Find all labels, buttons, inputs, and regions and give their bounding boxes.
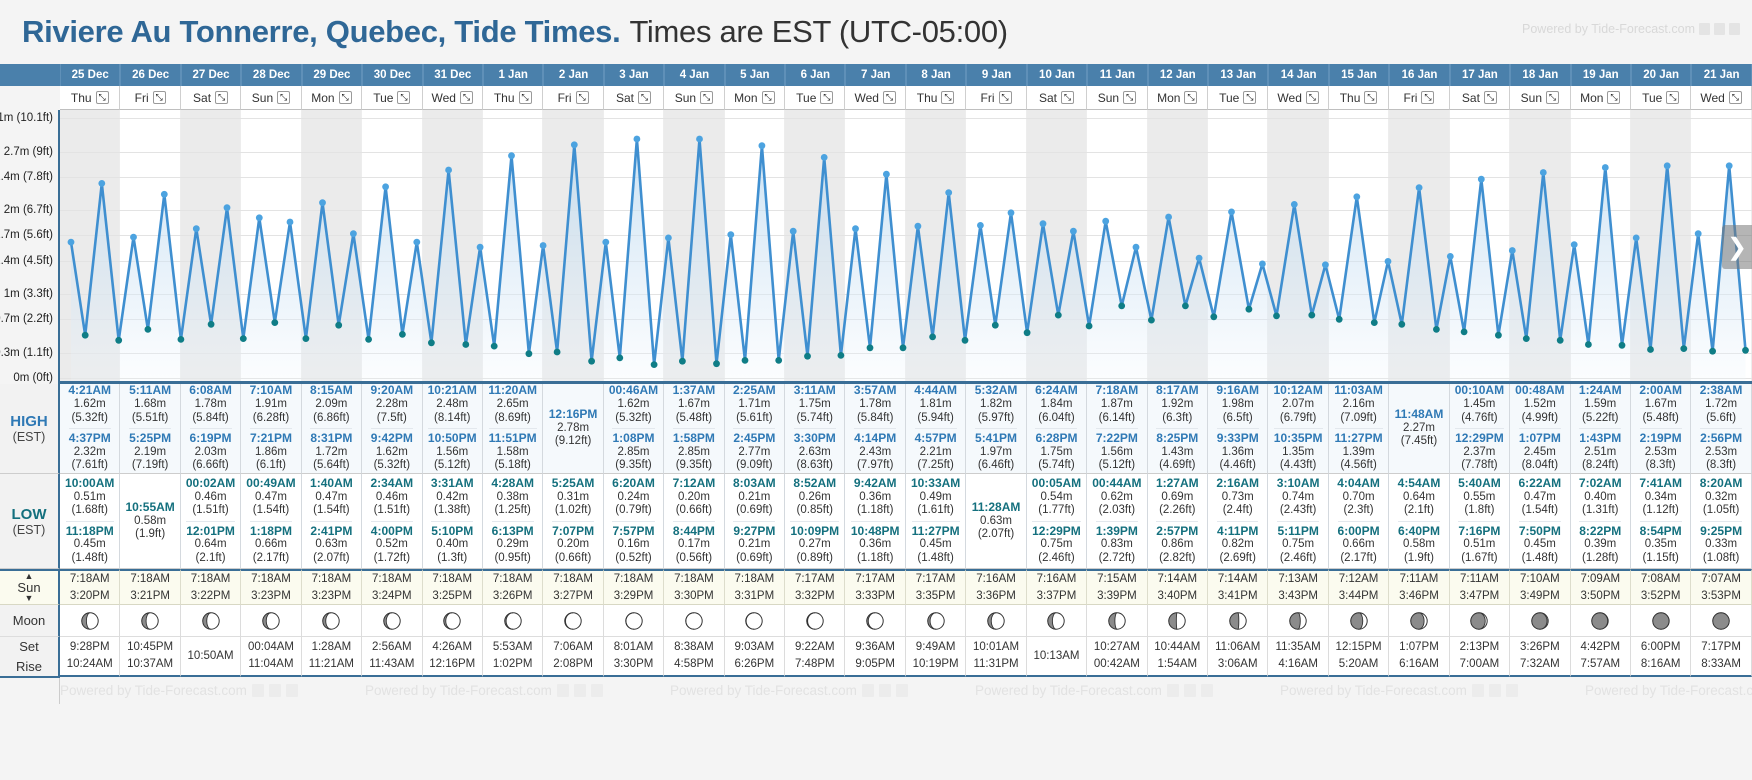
- moon-cell: [1208, 605, 1268, 637]
- high-cell[interactable]: 1:24AM1.59m(5.22ft)1:43PM2.51m(8.24ft): [1571, 384, 1631, 474]
- day-cell-sun[interactable]: Sun⤡: [1510, 86, 1570, 110]
- sunrise-time: 7:10AM: [1520, 571, 1560, 588]
- expand-icon[interactable]: ⤡: [96, 91, 109, 104]
- high-cell[interactable]: 6:24AM1.84m(6.04ft)6:28PM1.75m(5.74ft): [1027, 384, 1087, 474]
- high-event: 1:37AM1.67m(5.48ft): [673, 384, 716, 426]
- day-cell-tue[interactable]: Tue⤡: [1208, 86, 1268, 110]
- low-cell[interactable]: 5:40AM0.55m(1.8ft)7:16PM0.51m(1.67ft): [1450, 474, 1510, 569]
- next-period-button[interactable]: ❯: [1722, 225, 1752, 269]
- date-header-14-jan[interactable]: 14 Jan: [1268, 64, 1328, 86]
- sunset-time: 3:24PM: [372, 588, 412, 605]
- low-tide-point: [1433, 326, 1440, 333]
- moon-cell: [1329, 605, 1389, 637]
- moonset-time: 11:06AM: [1215, 639, 1260, 656]
- day-cell-thu[interactable]: Thu⤡: [1329, 86, 1389, 110]
- high-cell[interactable]: 4:44AM1.81m(5.94ft)4:57PM2.21m(7.25ft): [906, 384, 966, 474]
- high-time: 2:38AM: [1700, 384, 1743, 398]
- high-cell[interactable]: 11:20AM2.65m(8.69ft)11:51PM1.58m(5.18ft): [483, 384, 543, 474]
- footer-watermarks: Powered by Tide-Forecast.comPowered by T…: [0, 678, 1752, 704]
- high-cell[interactable]: 8:15AM2.09m(6.86ft)8:31PM1.72m(5.64ft): [302, 384, 362, 474]
- sunset-time: 3:39PM: [1097, 588, 1137, 605]
- low-time: 00:02AM: [186, 477, 235, 491]
- low-height-ft: (2.1ft): [186, 552, 235, 565]
- high-tide-point: [1602, 164, 1609, 171]
- low-cell[interactable]: 5:25AM0.31m(1.02ft)7:07PM0.20m(0.66ft): [543, 474, 603, 569]
- low-height-m: 0.47m: [1518, 491, 1561, 504]
- day-cell-sat[interactable]: Sat⤡: [1027, 86, 1087, 110]
- high-event: 3:11AM1.75m(5.74ft): [794, 384, 836, 426]
- high-time: 9:42PM: [371, 432, 413, 446]
- low-height-m: 0.55m: [1458, 491, 1501, 504]
- low-cell[interactable]: 8:03AM0.21m(0.69ft)9:27PM0.21m(0.69ft): [725, 474, 785, 569]
- moonset-time: 9:03AM: [735, 639, 775, 656]
- moonset-time: 4:42PM: [1580, 639, 1620, 656]
- high-height-m: 2.51m: [1579, 446, 1621, 459]
- low-height-ft: (2.03ft): [1092, 504, 1141, 517]
- chart-baseline: [60, 381, 1752, 384]
- low-cell[interactable]: 6:22AM0.47m(1.54ft)7:50PM0.45m(1.48ft): [1510, 474, 1570, 569]
- high-cell[interactable]: 12:16PM2.78m(9.12ft): [543, 384, 603, 474]
- low-time: 2:16AM: [1216, 477, 1259, 491]
- low-height-ft: (1.3ft): [431, 552, 473, 565]
- low-tide-point: [1086, 323, 1093, 330]
- low-time: 8:52AM: [793, 477, 836, 491]
- high-event: 9:42PM1.62m(5.32ft): [371, 428, 413, 474]
- low-height-m: 0.64m: [1398, 491, 1441, 504]
- low-cell[interactable]: 8:20AM0.32m(1.05ft)9:25PM0.33m(1.08ft): [1691, 474, 1751, 569]
- date-header-1-jan[interactable]: 1 Jan: [483, 64, 543, 86]
- footer-watermark-text: Powered by Tide-Forecast.com: [1585, 683, 1752, 698]
- low-event: 5:11PM0.75m(2.46ft): [1277, 521, 1318, 567]
- low-tide-point: [1495, 332, 1502, 339]
- expand-icon[interactable]: ⤡: [153, 91, 166, 104]
- low-height-ft: (1.77ft): [1032, 504, 1081, 517]
- high-tide-point: [1070, 228, 1077, 235]
- high-cell[interactable]: 00:46AM1.62m(5.32ft)1:08PM2.85m(9.35ft): [604, 384, 664, 474]
- low-tide-point: [742, 357, 749, 364]
- moon-setrise-cells: 9:28PM10:24AM10:45PM10:37AM10:50AM00:04A…: [60, 637, 1752, 678]
- high-cell[interactable]: 3:57AM1.78m(5.84ft)4:14PM2.43m(7.97ft): [845, 384, 905, 474]
- low-cell[interactable]: 1:27AM0.69m(2.26ft)2:57PM0.86m(2.82ft): [1148, 474, 1208, 569]
- expand-icon[interactable]: ⤡: [1729, 91, 1742, 104]
- date-header-26-dec[interactable]: 26 Dec: [120, 64, 180, 86]
- high-event: 11:51PM1.58m(5.18ft): [489, 428, 537, 474]
- low-height-ft: (1.48ft): [66, 552, 114, 565]
- low-height-ft: (0.89ft): [790, 552, 839, 565]
- day-cell-wed[interactable]: Wed⤡: [1268, 86, 1328, 110]
- day-cell-thu[interactable]: Thu⤡: [60, 86, 120, 110]
- low-time: 4:11PM: [1217, 525, 1258, 539]
- high-height-ft: (7.97ft): [854, 459, 896, 472]
- sunrise-time: 7:08AM: [1641, 571, 1681, 588]
- low-height-ft: (1.48ft): [1519, 552, 1561, 565]
- low-height-m: 0.46m: [370, 491, 413, 504]
- expand-icon[interactable]: ⤡: [638, 91, 651, 104]
- high-cell[interactable]: 9:16AM1.98m(6.5ft)9:33PM1.36m(4.46ft): [1208, 384, 1268, 474]
- high-tide-point: [1102, 218, 1109, 225]
- expand-icon[interactable]: ⤡: [1421, 91, 1434, 104]
- low-tide-point: [1118, 303, 1125, 310]
- high-event: 2:25AM1.71m(5.61ft): [733, 384, 776, 426]
- low-height-m: 0.58m: [1398, 538, 1440, 551]
- high-event: 10:35PM1.35m(4.43ft): [1274, 428, 1323, 474]
- low-cell[interactable]: 00:49AM0.47m(1.54ft)1:18PM0.66m(2.17ft): [241, 474, 301, 569]
- high-tide-point: [256, 214, 263, 221]
- expand-icon[interactable]: ⤡: [1607, 91, 1620, 104]
- date-header-29-dec[interactable]: 29 Dec: [302, 64, 362, 86]
- date-header-11-jan[interactable]: 11 Jan: [1087, 64, 1147, 86]
- high-event: 9:16AM1.98m(6.5ft): [1216, 384, 1259, 426]
- expand-icon[interactable]: ⤡: [1184, 91, 1197, 104]
- high-event: 8:31PM1.72m(5.64ft): [310, 428, 352, 474]
- high-cell[interactable]: 2:38AM1.72m(5.6ft)2:56PM2.53m(8.3ft): [1691, 384, 1751, 474]
- moonset-time: 00:04AM: [248, 639, 294, 656]
- expand-icon[interactable]: ⤡: [941, 91, 954, 104]
- low-cell[interactable]: 10:00AM0.51m(1.68ft)11:18PM0.45m(1.48ft): [60, 474, 120, 569]
- day-cell-mon[interactable]: Mon⤡: [1571, 86, 1631, 110]
- high-time: 5:25PM: [129, 432, 171, 446]
- expand-icon[interactable]: ⤡: [1364, 91, 1377, 104]
- high-time: 00:10AM: [1455, 384, 1504, 398]
- day-cell-sat[interactable]: Sat⤡: [604, 86, 664, 110]
- high-time: 2:45PM: [733, 432, 775, 446]
- brand-icon-1: [1167, 684, 1179, 697]
- moon-label: Moon: [0, 605, 60, 637]
- high-cell[interactable]: 10:12AM2.07m(6.79ft)10:35PM1.35m(4.43ft): [1268, 384, 1328, 474]
- date-header-21-jan[interactable]: 21 Jan: [1691, 64, 1751, 86]
- high-tide-point: [571, 141, 578, 148]
- high-event: 6:28PM1.75m(5.74ft): [1035, 428, 1077, 474]
- high-cell[interactable]: 00:10AM1.45m(4.76ft)12:29PM2.37m(7.78ft): [1450, 384, 1510, 474]
- day-cell-fri[interactable]: Fri⤡: [120, 86, 180, 110]
- moonrise-time: 7:57AM: [1580, 656, 1620, 673]
- expand-icon[interactable]: ⤡: [1546, 91, 1559, 104]
- high-height-ft: (8.3ft): [1700, 459, 1742, 472]
- sunrise-time: 7:18AM: [251, 571, 291, 588]
- low-time: 8:54PM: [1640, 525, 1682, 539]
- sun-cell: 7:09AM3:50PM: [1571, 569, 1631, 605]
- high-time: 2:00AM: [1639, 384, 1682, 398]
- low-tide-point: [867, 344, 874, 351]
- day-cell-tue[interactable]: Tue⤡: [1631, 86, 1691, 110]
- high-time: 2:25AM: [733, 384, 776, 398]
- date-header-27-dec[interactable]: 27 Dec: [181, 64, 241, 86]
- high-time: 5:32AM: [975, 384, 1018, 398]
- low-cell[interactable]: 6:20AM0.24m(0.79ft)7:57PM0.16m(0.52ft): [604, 474, 664, 569]
- low-event: 8:03AM0.21m(0.69ft): [733, 476, 776, 519]
- moon-setrise-cell: 8:38AM4:58PM: [664, 637, 724, 677]
- day-name: Thu: [917, 91, 938, 105]
- sunrise-arrow-icon: ▲: [25, 573, 34, 580]
- date-header-19-jan[interactable]: 19 Jan: [1571, 64, 1631, 86]
- sunset-time: 3:49PM: [1520, 588, 1560, 605]
- expand-icon[interactable]: ⤡: [762, 91, 775, 104]
- high-cell[interactable]: 7:10AM1.91m(6.28ft)7:21PM1.86m(6.1ft): [241, 384, 301, 474]
- expand-icon[interactable]: ⤡: [700, 91, 713, 104]
- low-tide-point: [82, 332, 89, 339]
- high-height-ft: (5.74ft): [794, 412, 836, 425]
- high-event: 2:56PM2.53m(8.3ft): [1700, 428, 1742, 474]
- low-height-m: 0.45m: [1519, 538, 1561, 551]
- sunrise-time: 7:18AM: [130, 571, 170, 588]
- expand-icon[interactable]: ⤡: [215, 91, 228, 104]
- day-cell-fri[interactable]: Fri⤡: [966, 86, 1026, 110]
- low-cell[interactable]: 00:02AM0.46m(1.51ft)12:01PM0.64m(2.1ft): [181, 474, 241, 569]
- high-height-ft: (4.56ft): [1335, 459, 1383, 472]
- low-cell[interactable]: 7:12AM0.20m(0.66ft)8:44PM0.17m(0.56ft): [664, 474, 724, 569]
- sun-cell: 7:17AM3:33PM: [845, 569, 905, 605]
- high-height-ft: (5.48ft): [673, 412, 716, 425]
- low-tide-point: [1246, 306, 1253, 313]
- high-cell[interactable]: 4:21AM1.62m(5.32ft)4:37PM2.32m(7.61ft): [60, 384, 120, 474]
- high-tide-point: [413, 239, 420, 246]
- expand-icon[interactable]: ⤡: [397, 91, 410, 104]
- day-cell-sat[interactable]: Sat⤡: [1450, 86, 1510, 110]
- expand-icon[interactable]: ⤡: [1243, 91, 1256, 104]
- expand-icon[interactable]: ⤡: [999, 91, 1012, 104]
- low-cell[interactable]: 3:31AM0.42m(1.38ft)5:10PM0.40m(1.3ft): [423, 474, 483, 569]
- day-cell-sun[interactable]: Sun⤡: [1087, 86, 1147, 110]
- low-cell[interactable]: 4:28AM0.38m(1.25ft)6:13PM0.29m(0.95ft): [483, 474, 543, 569]
- y-axis-tick: 1m (3.3ft): [4, 288, 53, 300]
- moonset-time: 10:13AM: [1033, 648, 1079, 665]
- low-time: 00:44AM: [1092, 477, 1141, 491]
- high-height-ft: (6.46ft): [975, 459, 1017, 472]
- sun-cell: 7:16AM3:37PM: [1027, 569, 1087, 605]
- low-height-m: 0.40m: [1579, 491, 1622, 504]
- low-tide-unit: (EST): [13, 523, 46, 537]
- date-header-20-jan[interactable]: 20 Jan: [1631, 64, 1691, 86]
- high-time: 1:58PM: [673, 432, 715, 446]
- sunset-time: 3:22PM: [191, 588, 231, 605]
- day-name: Sat: [616, 91, 634, 105]
- expand-icon[interactable]: ⤡: [1306, 91, 1319, 104]
- high-time: 4:44AM: [914, 384, 957, 398]
- moon-cell: [1268, 605, 1328, 637]
- high-cell[interactable]: 5:32AM1.82m(5.97ft)5:41PM1.97m(6.46ft): [966, 384, 1026, 474]
- low-cell[interactable]: 2:16AM0.73m(2.4ft)4:11PM0.82m(2.69ft): [1208, 474, 1268, 569]
- high-event: 10:12AM2.07m(6.79ft): [1273, 384, 1322, 426]
- high-cell[interactable]: 5:11AM1.68m(5.51ft)5:25PM2.19m(7.19ft): [120, 384, 180, 474]
- expand-icon[interactable]: ⤡: [1123, 91, 1136, 104]
- day-cell-fri[interactable]: Fri⤡: [543, 86, 603, 110]
- expand-icon[interactable]: ⤡: [576, 91, 589, 104]
- low-cell[interactable]: 3:10AM0.74m(2.43ft)5:11PM0.75m(2.46ft): [1268, 474, 1328, 569]
- low-height-m: 0.82m: [1217, 538, 1258, 551]
- high-cell[interactable]: 11:48AM2.27m(7.45ft): [1389, 384, 1449, 474]
- expand-icon[interactable]: ⤡: [277, 91, 290, 104]
- sunrise-time: 7:18AM: [553, 571, 593, 588]
- high-tide-point: [130, 234, 137, 241]
- date-header-2-jan[interactable]: 2 Jan: [543, 64, 603, 86]
- day-cell-tue[interactable]: Tue⤡: [785, 86, 845, 110]
- high-tide-point: [161, 191, 168, 198]
- day-cell-sun[interactable]: Sun⤡: [664, 86, 724, 110]
- sunset-time: 3:27PM: [553, 588, 593, 605]
- low-height-m: 0.31m: [552, 491, 595, 504]
- date-header-8-jan[interactable]: 8 Jan: [906, 64, 966, 86]
- date-header-12-jan[interactable]: 12 Jan: [1148, 64, 1208, 86]
- day-cell-mon[interactable]: Mon⤡: [302, 86, 362, 110]
- date-header-15-jan[interactable]: 15 Jan: [1329, 64, 1389, 86]
- date-header-16-jan[interactable]: 16 Jan: [1389, 64, 1449, 86]
- day-cell-fri[interactable]: Fri⤡: [1389, 86, 1449, 110]
- high-tide-point: [977, 222, 984, 229]
- high-height-m: 1.81m: [914, 398, 957, 411]
- expand-icon[interactable]: ⤡: [820, 91, 833, 104]
- low-cell[interactable]: 4:54AM0.64m(2.1ft)6:40PM0.58m(1.9ft): [1389, 474, 1449, 569]
- date-header-4-jan[interactable]: 4 Jan: [664, 64, 724, 86]
- low-height-ft: (0.69ft): [733, 552, 775, 565]
- high-tide-cells: 4:21AM1.62m(5.32ft)4:37PM2.32m(7.61ft)5:…: [60, 384, 1752, 474]
- low-event: 7:16PM0.51m(1.67ft): [1458, 521, 1500, 567]
- low-cell[interactable]: 8:52AM0.26m(0.85ft)10:09PM0.27m(0.89ft): [785, 474, 845, 569]
- high-height-ft: (6.28ft): [250, 412, 293, 425]
- low-time: 9:27PM: [733, 525, 775, 539]
- high-cell[interactable]: 2:25AM1.71m(5.61ft)2:45PM2.77m(9.09ft): [725, 384, 785, 474]
- date-header-7-jan[interactable]: 7 Jan: [845, 64, 905, 86]
- moonrise-time: 8:33AM: [1701, 656, 1741, 673]
- expand-icon[interactable]: ⤡: [1061, 91, 1074, 104]
- low-height-ft: (1.9ft): [1398, 552, 1440, 565]
- high-time: 11:03AM: [1334, 384, 1383, 398]
- high-height-m: 2.43m: [854, 446, 896, 459]
- low-cell[interactable]: 7:41AM0.34m(1.12ft)8:54PM0.35m(1.15ft): [1631, 474, 1691, 569]
- high-tide-point: [1571, 241, 1578, 248]
- high-height-m: 2.65m: [488, 398, 537, 411]
- low-event: 12:01PM0.64m(2.1ft): [186, 521, 235, 567]
- high-tide-point: [1695, 230, 1702, 237]
- sunset-time: 3:43PM: [1278, 588, 1318, 605]
- low-cell[interactable]: 00:44AM0.62m(2.03ft)1:39PM0.83m(2.72ft): [1087, 474, 1147, 569]
- high-cell[interactable]: 10:21AM2.48m(8.14ft)10:50PM1.56m(5.12ft): [423, 384, 483, 474]
- date-header-30-dec[interactable]: 30 Dec: [362, 64, 422, 86]
- low-cell[interactable]: 10:33AM0.49m(1.61ft)11:27PM0.45m(1.48ft): [906, 474, 966, 569]
- high-tide-point: [945, 189, 952, 196]
- day-cell-wed[interactable]: Wed⤡: [423, 86, 483, 110]
- low-height-m: 0.54m: [1032, 491, 1081, 504]
- day-name: Sun: [675, 91, 696, 105]
- date-header-13-jan[interactable]: 13 Jan: [1208, 64, 1268, 86]
- low-time: 00:49AM: [246, 477, 295, 491]
- high-height-ft: (5.64ft): [310, 459, 352, 472]
- expand-icon[interactable]: ⤡: [460, 91, 473, 104]
- high-cell[interactable]: 8:17AM1.92m(6.3ft)8:25PM1.43m(4.69ft): [1148, 384, 1208, 474]
- high-cell[interactable]: 00:48AM1.52m(4.99ft)1:07PM2.45m(8.04ft): [1510, 384, 1570, 474]
- high-cell[interactable]: 11:03AM2.16m(7.09ft)11:27PM1.39m(4.56ft): [1329, 384, 1389, 474]
- date-header-9-jan[interactable]: 9 Jan: [966, 64, 1026, 86]
- date-header-18-jan[interactable]: 18 Jan: [1510, 64, 1570, 86]
- high-cell[interactable]: 6:08AM1.78m(5.84ft)6:19PM2.03m(6.66ft): [181, 384, 241, 474]
- date-header-5-jan[interactable]: 5 Jan: [725, 64, 785, 86]
- low-cell[interactable]: 11:28AM0.63m(2.07ft): [966, 474, 1026, 569]
- low-event: 9:27PM0.21m(0.69ft): [733, 521, 775, 567]
- day-cell-mon[interactable]: Mon⤡: [1148, 86, 1208, 110]
- high-event: 10:50PM1.56m(5.12ft): [428, 428, 477, 474]
- low-event: 00:49AM0.47m(1.54ft): [246, 476, 295, 519]
- low-cell[interactable]: 00:05AM0.54m(1.77ft)12:29PM0.75m(2.46ft): [1027, 474, 1087, 569]
- day-cell-thu[interactable]: Thu⤡: [906, 86, 966, 110]
- date-header-3-jan[interactable]: 3 Jan: [604, 64, 664, 86]
- high-height-ft: (4.43ft): [1274, 459, 1323, 472]
- low-tide-point: [929, 334, 936, 341]
- low-height-m: 0.35m: [1640, 538, 1682, 551]
- day-cell-thu[interactable]: Thu⤡: [483, 86, 543, 110]
- y-axis-tick: 1.4m (4.5ft): [0, 255, 53, 267]
- expand-icon[interactable]: ⤡: [883, 91, 896, 104]
- day-cell-wed[interactable]: Wed⤡: [1691, 86, 1751, 110]
- chart-y-axis: 3.1m (10.1ft)2.7m (9ft)2.4m (7.8ft)2m (6…: [0, 110, 60, 384]
- high-height-ft: (5.12ft): [428, 459, 477, 472]
- high-height-m: 1.75m: [1035, 446, 1077, 459]
- high-event: 7:21PM1.86m(6.1ft): [250, 428, 292, 474]
- date-header-25-dec[interactable]: 25 Dec: [60, 64, 120, 86]
- high-cell[interactable]: 3:11AM1.75m(5.74ft)3:30PM2.63m(8.63ft): [785, 384, 845, 474]
- expand-icon[interactable]: ⤡: [519, 91, 532, 104]
- moon-phase-icon: [80, 611, 100, 631]
- date-header-10-jan[interactable]: 10 Jan: [1027, 64, 1087, 86]
- day-cell-wed[interactable]: Wed⤡: [845, 86, 905, 110]
- low-cell[interactable]: 2:34AM0.46m(1.51ft)4:00PM0.52m(1.72ft): [362, 474, 422, 569]
- date-header-6-jan[interactable]: 6 Jan: [785, 64, 845, 86]
- high-cell[interactable]: 2:00AM1.67m(5.48ft)2:19PM2.53m(8.3ft): [1631, 384, 1691, 474]
- low-tide-point: [962, 337, 969, 344]
- low-cell[interactable]: 4:04AM0.70m(2.3ft)6:00PM0.66m(2.17ft): [1329, 474, 1389, 569]
- low-time: 10:55AM: [125, 501, 174, 515]
- low-tide-point: [588, 358, 595, 365]
- date-header-31-dec[interactable]: 31 Dec: [423, 64, 483, 86]
- low-height-m: 0.45m: [66, 538, 114, 551]
- footer-spacer: [0, 678, 60, 704]
- low-height-m: 0.21m: [733, 538, 775, 551]
- low-cell[interactable]: 10:55AM0.58m(1.9ft): [120, 474, 180, 569]
- high-height-m: 1.84m: [1035, 398, 1078, 411]
- low-time: 12:29PM: [1032, 525, 1081, 539]
- moon-cell: [604, 605, 664, 637]
- high-height-m: 1.98m: [1216, 398, 1259, 411]
- moon-cell: [1631, 605, 1691, 637]
- sunrise-time: 7:17AM: [916, 571, 956, 588]
- high-cell[interactable]: 9:20AM2.28m(7.5ft)9:42PM1.62m(5.32ft): [362, 384, 422, 474]
- low-tide-point: [1680, 345, 1687, 352]
- high-event: 5:11AM1.68m(5.51ft): [129, 384, 171, 426]
- low-height-m: 0.70m: [1337, 491, 1380, 504]
- low-height-m: 0.21m: [733, 491, 776, 504]
- sun-cell: 7:11AM3:47PM: [1450, 569, 1510, 605]
- day-cell-tue[interactable]: Tue⤡: [362, 86, 422, 110]
- low-cell[interactable]: 7:02AM0.40m(1.31ft)8:22PM0.39m(1.28ft): [1571, 474, 1631, 569]
- high-cell[interactable]: 1:37AM1.67m(5.48ft)1:58PM2.85m(9.35ft): [664, 384, 724, 474]
- expand-icon[interactable]: ⤡: [1666, 91, 1679, 104]
- high-height-ft: (6.1ft): [250, 459, 292, 472]
- low-cell[interactable]: 9:42AM0.36m(1.18ft)10:48PM0.36m(1.18ft): [845, 474, 905, 569]
- day-cell-mon[interactable]: Mon⤡: [725, 86, 785, 110]
- brand-icon-2: [269, 684, 281, 697]
- date-header-17-jan[interactable]: 17 Jan: [1450, 64, 1510, 86]
- moon-phase-cells: [60, 605, 1752, 637]
- high-cell[interactable]: 7:18AM1.87m(6.14ft)7:22PM1.56m(5.12ft): [1087, 384, 1147, 474]
- low-cell[interactable]: 1:40AM0.47m(1.54ft)2:41PM0.63m(2.07ft): [302, 474, 362, 569]
- high-tide-point: [319, 199, 326, 206]
- day-cell-sun[interactable]: Sun⤡: [241, 86, 301, 110]
- date-header-28-dec[interactable]: 28 Dec: [241, 64, 301, 86]
- low-event: 2:57PM0.86m(2.82ft): [1156, 521, 1198, 567]
- high-time: 12:16PM: [549, 408, 598, 422]
- expand-icon[interactable]: ⤡: [1484, 91, 1497, 104]
- moonset-time: 10:27AM: [1094, 639, 1140, 656]
- expand-icon[interactable]: ⤡: [339, 91, 352, 104]
- day-cell-sat[interactable]: Sat⤡: [181, 86, 241, 110]
